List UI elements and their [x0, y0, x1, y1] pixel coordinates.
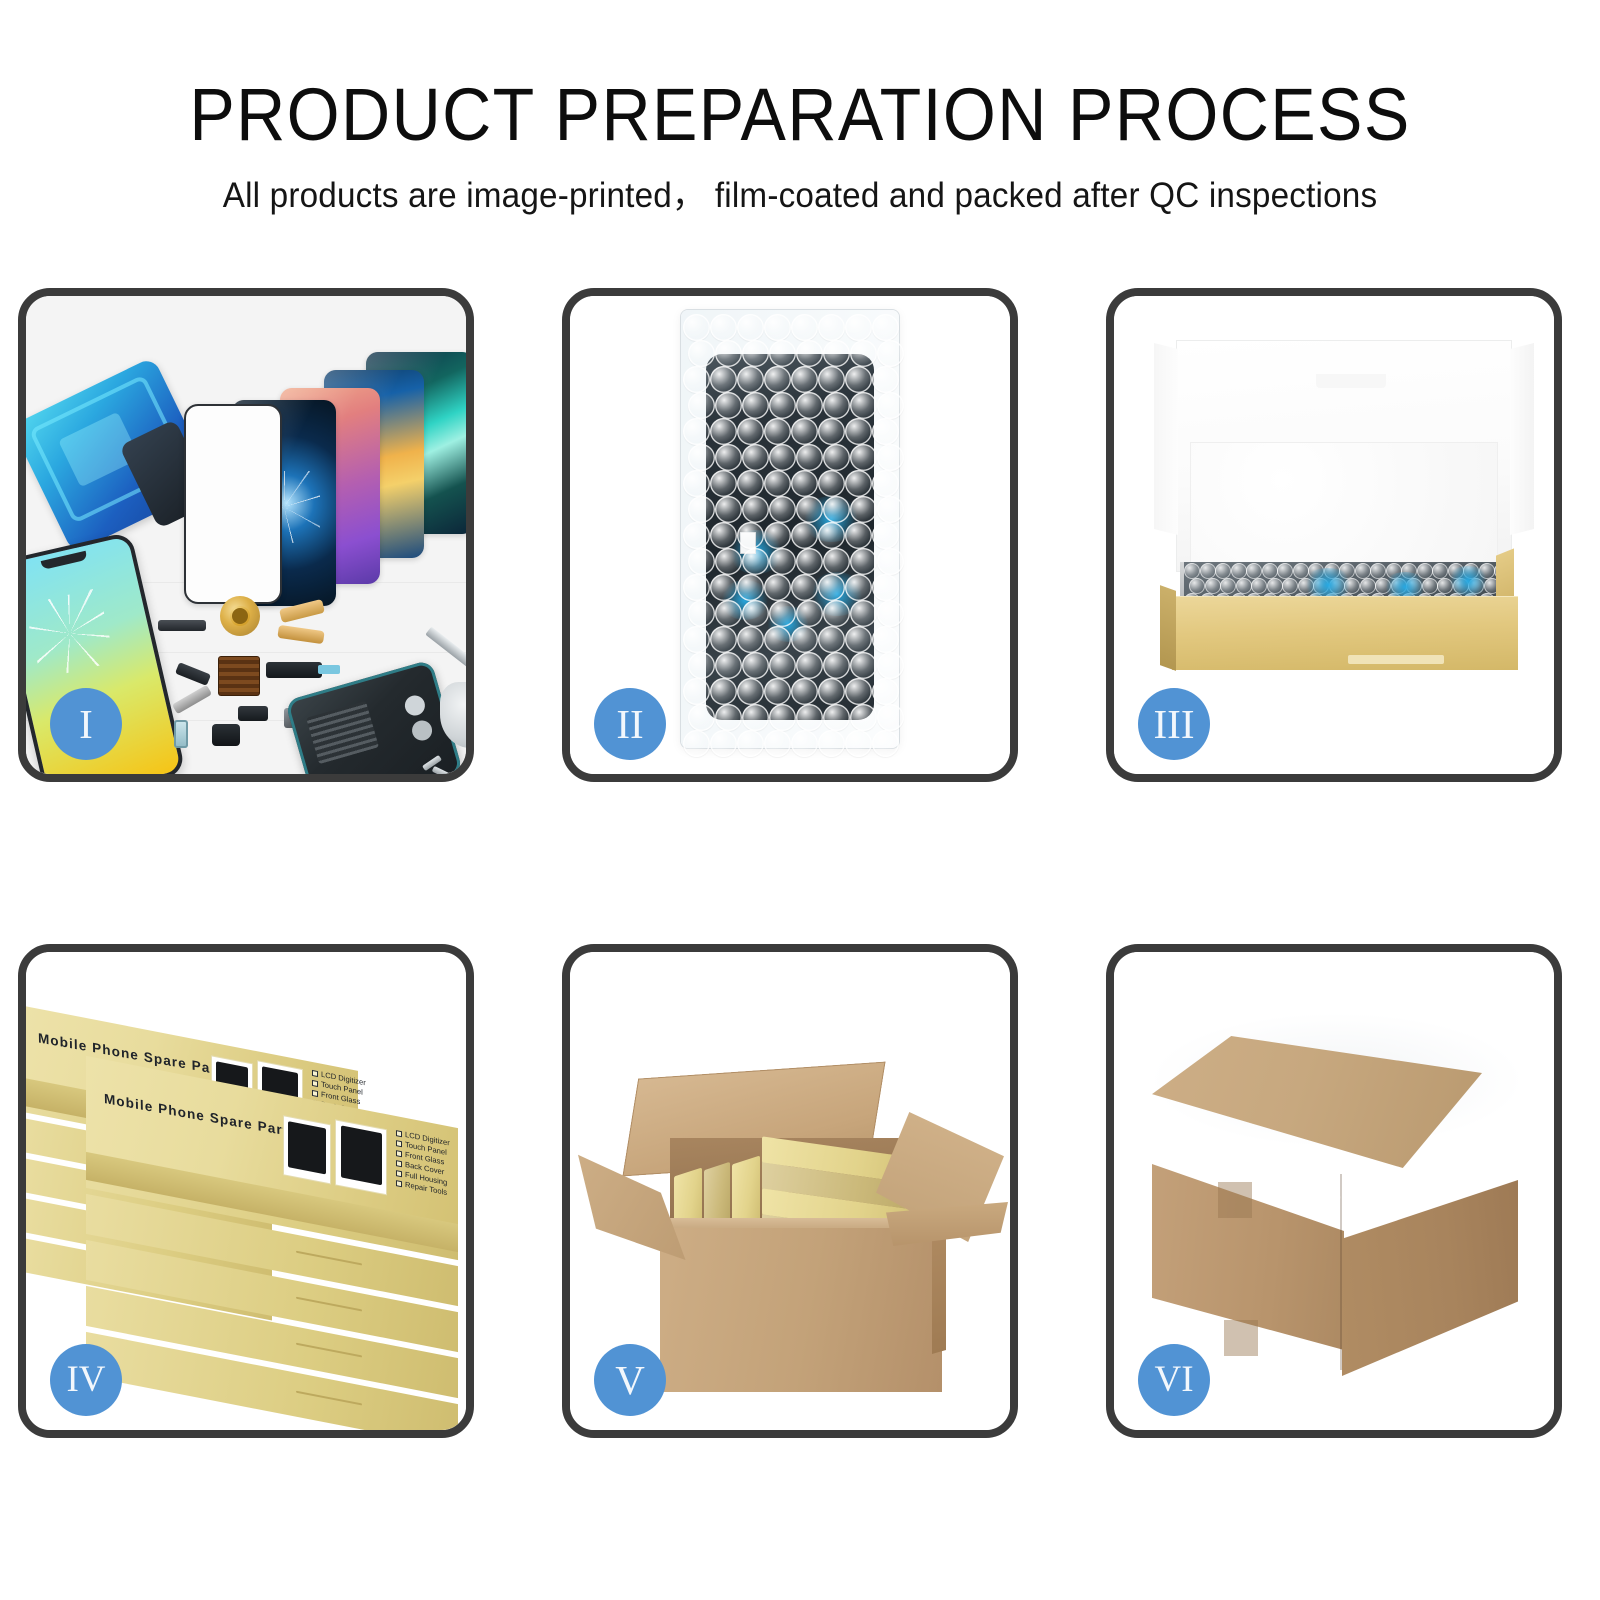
- box-front-wall: [1172, 596, 1518, 670]
- capacitor-part: [238, 706, 268, 721]
- flex-cable-d: [175, 662, 211, 686]
- page-subtitle: All products are image-printed， film-coa…: [40, 152, 1560, 213]
- carton-front-body: [660, 1228, 942, 1392]
- box-product-photo: [284, 1116, 330, 1183]
- box-left-wall: [1160, 585, 1176, 671]
- front-glass-panel: [184, 404, 282, 604]
- foam-insert: [1190, 442, 1498, 568]
- infographic-page: PRODUCT PREPARATION PROCESS All products…: [0, 0, 1600, 1600]
- panel-step-6: VI: [1106, 944, 1562, 1438]
- box-front-tab: [1348, 655, 1444, 664]
- screws-group: [422, 758, 458, 774]
- box-product-photo: [336, 1120, 386, 1194]
- box-checklist: LCD Digitizer Touch Panel Front Glass Ba…: [396, 1128, 450, 1198]
- badge-step-6: VI: [1138, 1344, 1210, 1416]
- panel-step-3: III: [1106, 288, 1562, 782]
- flex-cable-b: [277, 625, 324, 644]
- bubble-bag: [681, 310, 899, 748]
- badge-step-3: III: [1138, 688, 1210, 760]
- panel-step-1: I: [18, 288, 474, 782]
- panel-step-2: II: [562, 288, 1018, 782]
- badge-step-5: V: [594, 1344, 666, 1416]
- bubble-layer: [681, 310, 899, 748]
- lid-tab: [1316, 374, 1386, 388]
- badge-step-1: I: [50, 688, 122, 760]
- badge-step-4: IV: [50, 1344, 122, 1416]
- carton-right-face: [1342, 1180, 1518, 1376]
- flex-cable-e: [172, 685, 212, 715]
- panel-step-5: V: [562, 944, 1018, 1438]
- panel-step-4: Mobile Phone Spare Parts LCD Digitizer T…: [18, 944, 474, 1438]
- earpiece-speaker-part: [158, 620, 206, 631]
- flex-cable-c: [266, 662, 322, 678]
- header: PRODUCT PREPARATION PROCESS All products…: [0, 0, 1600, 213]
- carton-corner-seam: [1340, 1174, 1342, 1370]
- sim-tray-part: [174, 720, 188, 748]
- tape-tab-upper: [1218, 1182, 1252, 1218]
- page-title: PRODUCT PREPARATION PROCESS: [64, 0, 1536, 152]
- badge-step-2: II: [594, 688, 666, 760]
- camera-module-part: [212, 724, 240, 746]
- phone-notch: [41, 551, 88, 570]
- tape-tab-lower: [1224, 1320, 1258, 1356]
- wireless-charging-coil: [220, 596, 260, 636]
- ic-chip-grid: [218, 656, 260, 696]
- tweezer-tool: [425, 627, 466, 672]
- box-brand-text: Mobile Phone Spare Parts: [104, 1091, 297, 1140]
